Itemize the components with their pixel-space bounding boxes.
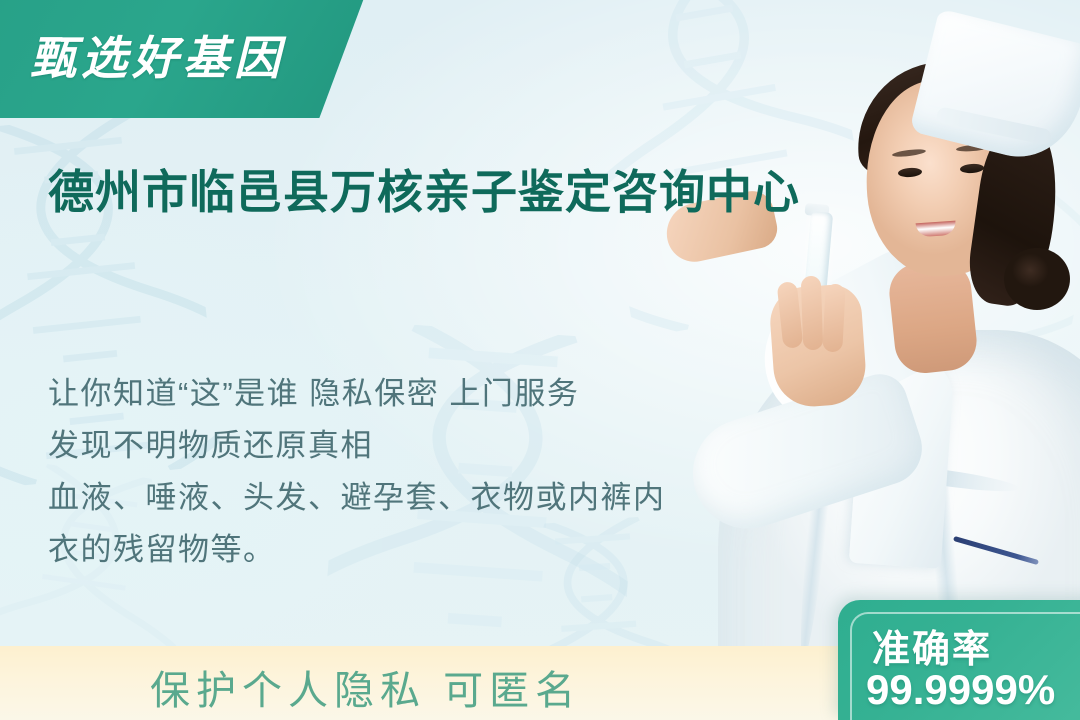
hair-bun: [1004, 248, 1070, 310]
body-copy: 让你知道“这”是谁 隐私保密 上门服务 发现不明物质还原真相 血液、唾液、头发、…: [48, 368, 748, 576]
accuracy-value: 99.9999%: [866, 666, 1055, 714]
body-line: 衣的残留物等。: [48, 524, 748, 576]
finger: [801, 276, 824, 351]
body-line: 血液、唾液、头发、避孕套、衣物或内裤内: [48, 472, 748, 524]
body-line: 让你知道“这”是谁 隐私保密 上门服务: [48, 368, 748, 420]
body-line: 发现不明物质还原真相: [48, 420, 748, 472]
finger: [822, 284, 846, 353]
page-title: 德州市临邑县万核亲子鉴定咨询中心: [48, 152, 858, 232]
accuracy-badge: 准确率 99.9999%: [838, 600, 1080, 720]
promo-banner: 甄选好基因 德州市临邑县万核亲子鉴定咨询中心 让你知道“这”是谁 隐私保密 上门…: [0, 0, 1080, 720]
accuracy-label: 准确率: [872, 618, 992, 673]
logo-text: 甄选好基因: [30, 22, 330, 88]
bottom-bar-text: 保护个人隐私 可匿名: [150, 658, 581, 716]
